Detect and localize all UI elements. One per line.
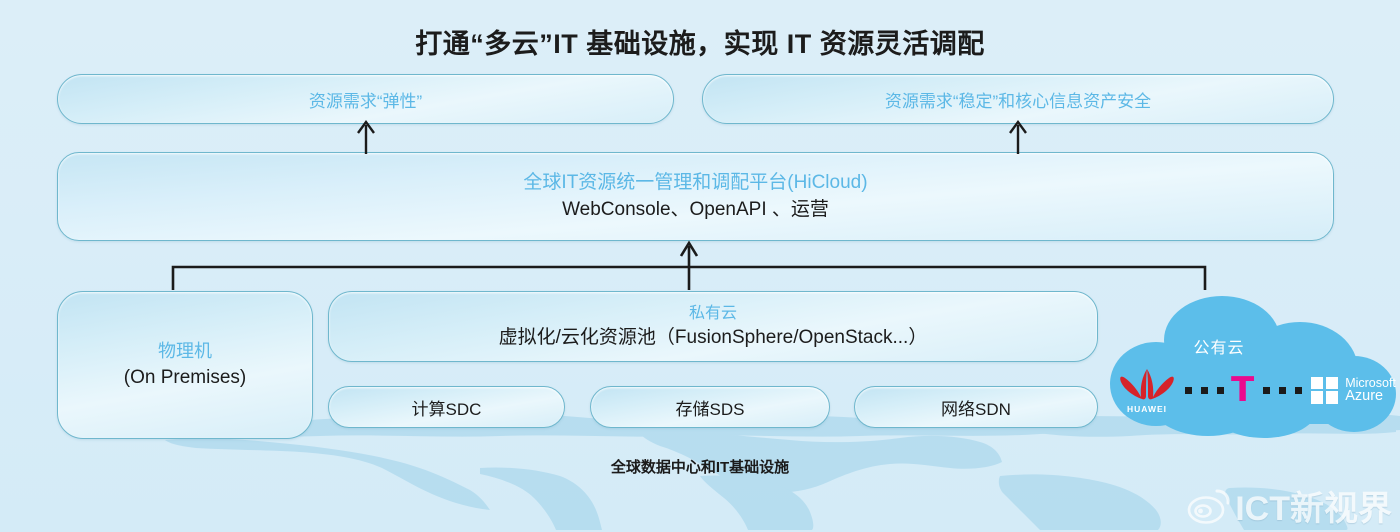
arrow-up-left	[358, 122, 374, 154]
huawei-wordmark: HUAWEI	[1116, 404, 1178, 414]
watermark: ICT新视界	[1186, 481, 1392, 530]
windows-glyph-icon	[1311, 377, 1338, 404]
huawei-logo-icon: HUAWEI	[1116, 367, 1178, 413]
bracket-connector	[173, 243, 1205, 290]
dot	[1263, 387, 1270, 394]
public-cloud-label: 公有云	[1104, 334, 1334, 358]
dot	[1295, 387, 1302, 394]
t-mobile-logo-icon: T	[1231, 375, 1254, 405]
public-cloud-group[interactable]: 公有云 HUAWEI T	[1104, 292, 1396, 442]
arrow-up-right	[1010, 122, 1026, 154]
dots-separator-left	[1185, 387, 1224, 394]
weibo-icon	[1186, 486, 1232, 526]
public-cloud-logo-row: HUAWEI T Microsoft Azure	[1112, 366, 1392, 414]
microsoft-azure-logo: Microsoft Azure	[1311, 377, 1396, 404]
dot	[1217, 387, 1224, 394]
dot	[1279, 387, 1286, 394]
dots-separator-right	[1263, 387, 1302, 394]
connector-lines	[0, 0, 1400, 532]
bottom-caption: 全球数据中心和IT基础设施	[0, 456, 1400, 477]
dot	[1201, 387, 1208, 394]
azure-line2: Azure	[1345, 390, 1396, 403]
watermark-text: ICT新视界	[1235, 481, 1392, 530]
dot	[1185, 387, 1192, 394]
azure-wordmark: Microsoft Azure	[1345, 377, 1396, 403]
slide-canvas: 打通“多云”IT 基础设施，实现 IT 资源灵活调配 资源需求“弹性” 资源需求…	[0, 0, 1400, 532]
